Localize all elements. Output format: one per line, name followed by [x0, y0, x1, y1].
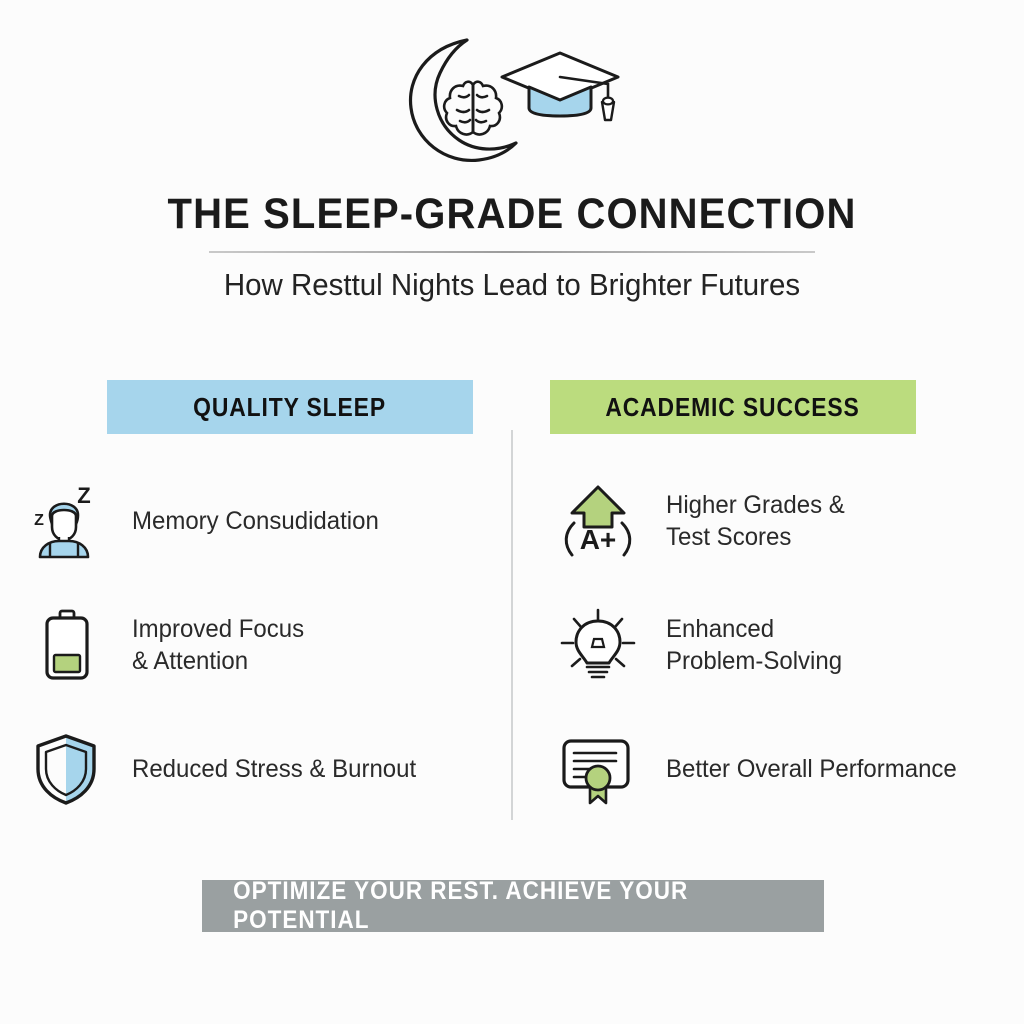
infographic-poster: THE SLEEP-GRADE CONNECTION How Resttul N…	[0, 0, 1024, 1024]
column-academic-success: ACADEMIC SUCCESS A+	[550, 380, 1010, 850]
title-divider	[209, 251, 815, 253]
list-item: Enhanced Problem-Solving	[550, 602, 1010, 688]
column-header-label: QUALITY SLEEP	[194, 392, 387, 423]
battery-icon	[18, 607, 114, 683]
page-title: THE SLEEP-GRADE CONNECTION	[36, 190, 988, 239]
list-item: Improved Focus & Attention	[14, 602, 474, 688]
list-item-label: Reduced Stress & Burnout	[132, 753, 416, 785]
sleeping-person-zzz-icon: Z Z	[18, 483, 114, 559]
list-item-label: Memory Consudidation	[132, 505, 379, 537]
item-list-quality-sleep: Z Z	[14, 478, 474, 812]
moon-brain-graduation-cap-icon	[397, 28, 627, 178]
lightbulb-icon	[550, 607, 646, 683]
column-header-quality-sleep: QUALITY SLEEP	[107, 380, 473, 434]
column-divider	[511, 430, 513, 820]
footer-tagline: OPTIMIZE YOUR REST. ACHIEVE YOUR POTENTI…	[233, 877, 793, 935]
list-item-label: Enhanced Problem-Solving	[666, 613, 842, 677]
item-list-academic-success: A+ Higher Grades & Test Scores	[550, 478, 1010, 812]
list-item-label: Improved Focus & Attention	[132, 613, 304, 677]
list-item-label: Higher Grades & Test Scores	[666, 489, 845, 553]
list-item: A+ Higher Grades & Test Scores	[550, 478, 1010, 564]
shield-icon	[18, 731, 114, 807]
list-item-label: Better Overall Performance	[666, 753, 957, 785]
page-subtitle: How Resttul Nights Lead to Brighter Futu…	[26, 267, 999, 303]
list-item: Z Z	[14, 478, 474, 564]
svg-text:Z: Z	[34, 512, 44, 529]
svg-text:Z: Z	[77, 483, 90, 508]
svg-text:A+: A+	[580, 524, 617, 555]
column-header-label: ACADEMIC SUCCESS	[606, 392, 860, 423]
footer-banner: OPTIMIZE YOUR REST. ACHIEVE YOUR POTENTI…	[202, 880, 824, 932]
grade-up-arrow-a-plus-icon: A+	[550, 483, 646, 559]
list-item: Reduced Stress & Burnout	[14, 726, 474, 812]
columns-section: QUALITY SLEEP Z Z	[0, 380, 1024, 840]
title-block: THE SLEEP-GRADE CONNECTION How Resttul N…	[0, 190, 1024, 303]
column-header-academic-success: ACADEMIC SUCCESS	[550, 380, 916, 434]
certificate-award-icon	[550, 731, 646, 807]
list-item: Better Overall Performance	[550, 726, 1010, 812]
column-quality-sleep: QUALITY SLEEP Z Z	[14, 380, 474, 850]
header-icon-group	[0, 28, 1024, 178]
